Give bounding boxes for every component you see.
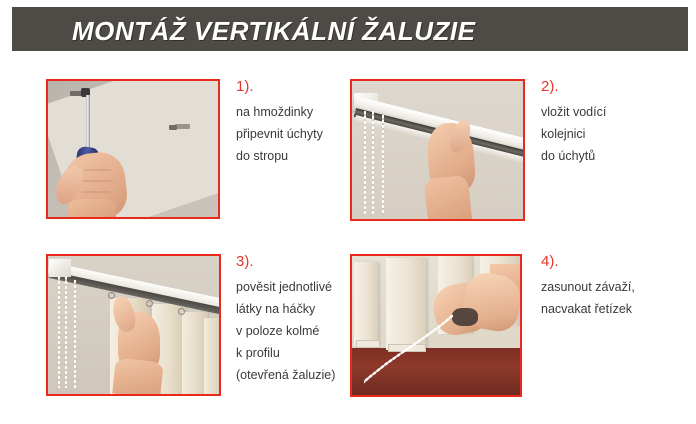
step-3-caption: 3). pověsit jednotlivé látky na háčky v … <box>236 254 335 386</box>
step-3-number: 3). <box>236 254 335 269</box>
step-3-line-4: k profilu <box>236 342 335 364</box>
bead-chain-icon <box>364 314 456 384</box>
control-chain-icon <box>372 111 374 215</box>
step-4-number: 4). <box>541 254 635 269</box>
step-3-line-1: pověsit jednotlivé <box>236 276 335 298</box>
page-header-banner: MONTÁŽ VERTIKÁLNÍ ŽALUZIE <box>12 7 688 51</box>
control-chain-icon <box>74 280 76 388</box>
step-2-number: 2). <box>541 79 606 94</box>
step-2-line-1: vložit vodící <box>541 101 606 123</box>
step-1-photo <box>46 79 220 219</box>
step-1-line-2: připevnit úchyty <box>236 123 323 145</box>
instruction-page: MONTÁŽ VERTIKÁLNÍ ŽALUZIE <box>0 0 696 424</box>
step-3-photo-cell <box>46 254 221 396</box>
page-title: MONTÁŽ VERTIKÁLNÍ ŽALUZIE <box>72 16 475 47</box>
step-2-caption: 2). vložit vodící kolejnici do úchytů <box>541 79 606 167</box>
control-chain-icon <box>382 115 384 215</box>
step-2-line-3: do úchytů <box>541 145 606 167</box>
fabric-slat <box>204 318 221 396</box>
screwdriver-shaft-icon <box>86 95 90 153</box>
slat-hook-icon <box>178 308 185 315</box>
slat-hook-icon <box>108 292 115 299</box>
step-2-photo-cell <box>350 79 525 221</box>
control-chain-icon <box>364 111 366 215</box>
step-4-line-2: nacvakat řetízek <box>541 298 635 320</box>
step-4-photo <box>350 254 522 397</box>
step-3-line-3: v poloze kolmé <box>236 320 335 342</box>
ceiling-bracket-far-screw-icon <box>169 125 177 130</box>
step-3-line-2: látky na háčky <box>236 298 335 320</box>
step-4-line-1: zasunout závaží, <box>541 276 635 298</box>
step-3-line-5: (otevřená žaluzie) <box>236 364 335 386</box>
rail-endcap-icon <box>49 259 71 277</box>
step-2-line-2: kolejnici <box>541 123 606 145</box>
control-chain-icon <box>65 276 67 388</box>
finger-line-icon <box>81 180 113 182</box>
finger-line-icon <box>81 191 111 193</box>
step-1-photo-cell <box>46 79 220 219</box>
step-4-photo-cell <box>350 254 522 397</box>
step-1-number: 1). <box>236 79 323 94</box>
control-chain-icon <box>58 276 60 388</box>
step-3-photo <box>46 254 221 396</box>
ceiling-bracket-far-icon <box>175 124 190 129</box>
finger-line-icon <box>82 169 112 171</box>
step-1-line-1: na hmoždinky <box>236 101 323 123</box>
forearm-icon <box>112 358 164 396</box>
step-4-caption: 4). zasunout závaží, nacvakat řetízek <box>541 254 635 320</box>
step-2-photo <box>350 79 525 221</box>
slat-hook-icon <box>146 300 153 307</box>
step-1-line-3: do stropu <box>236 145 323 167</box>
forearm-icon <box>424 175 473 221</box>
step-1-caption: 1). na hmoždinky připevnit úchyty do str… <box>236 79 323 167</box>
forearm-icon <box>68 199 116 219</box>
